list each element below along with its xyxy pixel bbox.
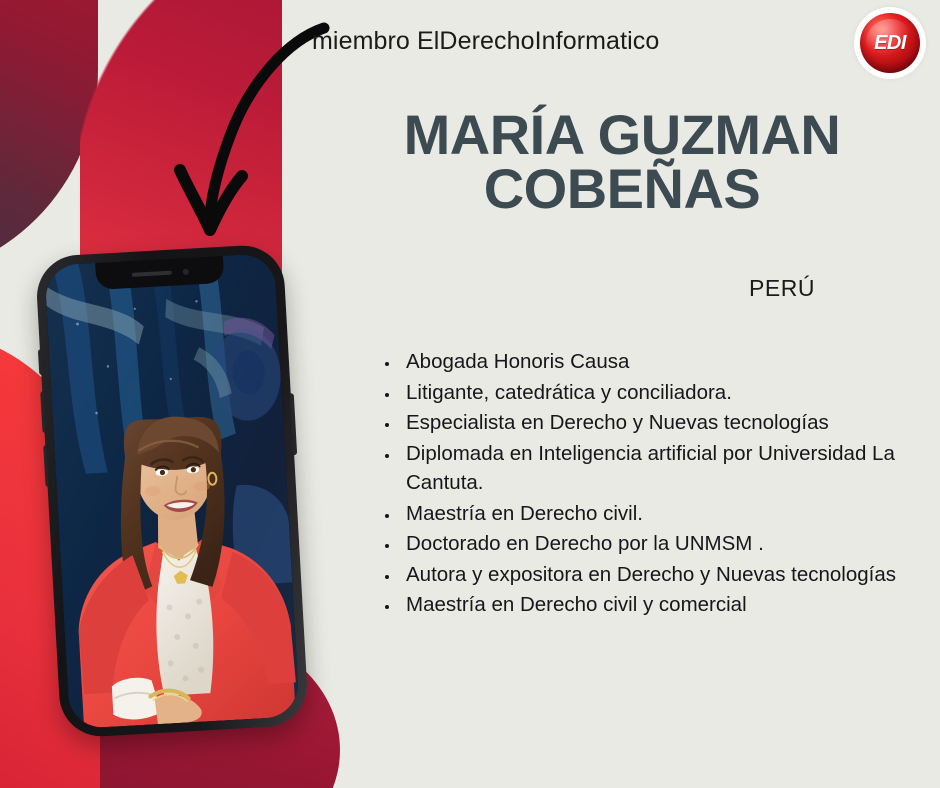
promo-poster: miembro ElDerechoInformatico EDI MARÍA G… [0, 0, 940, 788]
list-item: Litigante, catedrática y conciliadora. [400, 378, 930, 407]
name-line-1: MARÍA GUZMAN [362, 108, 882, 162]
list-item: Maestría en Derecho civil y comercial [400, 590, 930, 619]
phone-mockup [35, 243, 310, 738]
logo-text: EDI [874, 32, 906, 55]
list-item: Doctorado en Derecho por la UNMSM . [400, 529, 930, 558]
person-name: MARÍA GUZMAN COBEÑAS [362, 108, 882, 216]
country-label: PERÚ [682, 275, 882, 302]
earpiece-speaker-icon [131, 270, 171, 276]
list-item: Abogada Honoris Causa [400, 347, 930, 376]
list-item: Maestría en Derecho civil. [400, 499, 930, 528]
name-line-2: COBEÑAS [362, 162, 882, 216]
logo-orb: EDI [860, 13, 920, 73]
list-item: Diplomada en Inteligencia artificial por… [400, 439, 930, 497]
edi-logo[interactable]: EDI [854, 7, 926, 79]
member-label: miembro ElDerechoInformatico [312, 27, 659, 56]
credentials-list: Abogada Honoris Causa Litigante, catedrá… [378, 347, 930, 621]
phone-screen [44, 253, 300, 729]
portrait-photo [44, 253, 300, 729]
list-item: Especialista en Derecho y Nuevas tecnolo… [400, 408, 930, 437]
front-camera-icon [182, 268, 188, 274]
maroon-quarter-circle-top-left [0, 0, 98, 280]
list-item: Autora y expositora en Derecho y Nuevas … [400, 560, 930, 589]
